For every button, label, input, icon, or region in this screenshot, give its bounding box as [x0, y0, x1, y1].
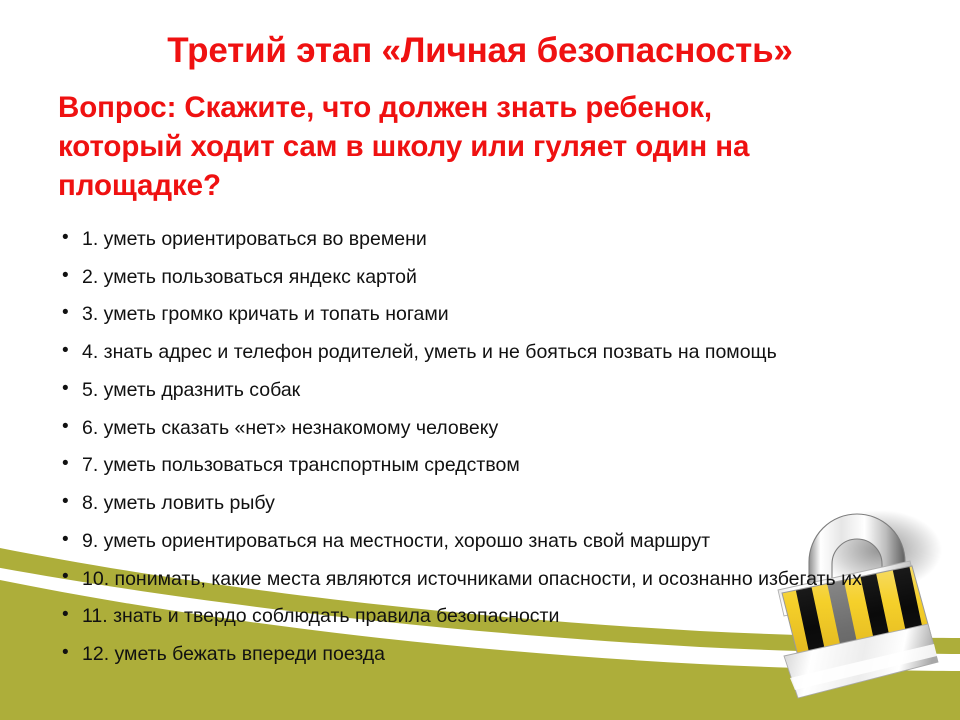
list-item-text: 1. уметь ориентироваться во времени — [82, 228, 427, 250]
answer-bullet-list: 1. уметь ориентироваться во времени 2. у… — [56, 228, 936, 680]
slide-content: Третий этап «Личная безопасность» Вопрос… — [0, 0, 960, 720]
question-block: Вопрос: Скажите, что должен знать ребено… — [58, 88, 918, 206]
question-line-3: площадке? — [58, 166, 918, 205]
list-item-text: 8. уметь ловить рыбу — [82, 492, 275, 514]
list-item: 5. уметь дразнить собак — [56, 379, 936, 401]
list-item-text: 3. уметь громко кричать и топать ногами — [82, 303, 449, 325]
list-item-text: 6. уметь сказать «нет» незнакомому челов… — [82, 417, 498, 439]
list-item-text: 10. понимать, какие места являются источ… — [82, 568, 862, 590]
list-item-text: 9. уметь ориентироваться на местности, х… — [82, 530, 710, 552]
list-item: 6. уметь сказать «нет» незнакомому челов… — [56, 417, 936, 439]
list-item: 9. уметь ориентироваться на местности, х… — [56, 530, 936, 552]
question-line-1: Вопрос: Скажите, что должен знать ребено… — [58, 88, 918, 127]
slide-canvas: Третий этап «Личная безопасность» Вопрос… — [0, 0, 960, 720]
question-line-2: который ходит сам в школу или гуляет оди… — [58, 127, 918, 166]
list-item-text: 5. уметь дразнить собак — [82, 379, 300, 401]
list-item: 8. уметь ловить рыбу — [56, 492, 936, 514]
list-item: 2. уметь пользоваться яндекс картой — [56, 266, 936, 288]
list-item: 4. знать адрес и телефон родителей, умет… — [56, 341, 936, 363]
slide-title: Третий этап «Личная безопасность» — [0, 33, 960, 70]
list-item-text: 4. знать адрес и телефон родителей, умет… — [82, 341, 777, 363]
list-item: 10. понимать, какие места являются источ… — [56, 567, 936, 592]
list-item: 1. уметь ориентироваться во времени — [56, 228, 936, 250]
list-item: 3. уметь громко кричать и топать ногами — [56, 303, 936, 325]
list-item-text: 2. уметь пользоваться яндекс картой — [82, 266, 417, 288]
list-item-text: 12. уметь бежать впереди поезда — [82, 643, 385, 665]
list-item: 7. уметь пользоваться транспортным средс… — [56, 454, 936, 476]
list-item-text: 7. уметь пользоваться транспортным средс… — [82, 454, 520, 476]
list-item-text: 11. знать и твердо соблюдать правила без… — [82, 605, 559, 627]
list-item: 11. знать и твердо соблюдать правила без… — [56, 605, 936, 627]
list-item: 12. уметь бежать впереди поезда — [56, 643, 936, 665]
